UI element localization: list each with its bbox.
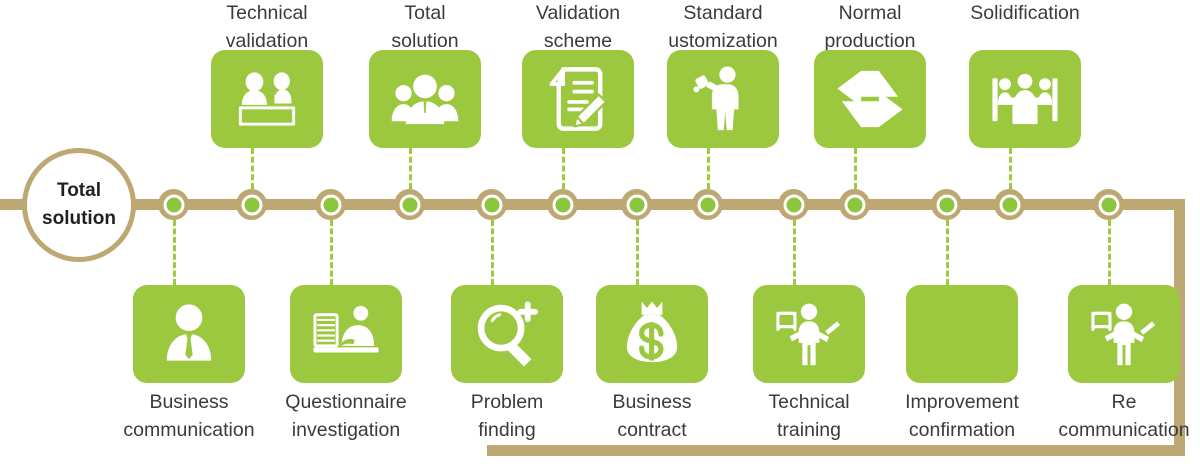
- icon-tile-steps_bottom-7[interactable]: [1068, 285, 1180, 383]
- connector-steps_top-3: [562, 148, 565, 189]
- start-node-total-solution[interactable]: Total solution: [22, 148, 136, 262]
- person-microphone-icon: [686, 62, 760, 136]
- timeline-node-steps_bottom-6[interactable]: [931, 189, 962, 220]
- icon-tile-steps_top-2[interactable]: [369, 50, 481, 148]
- timeline-node-steps_top-4[interactable]: [692, 189, 723, 220]
- connector-steps_bottom-4: [636, 220, 639, 285]
- icon-tile-steps_bottom-2[interactable]: [290, 285, 402, 383]
- icon-tile-steps_bottom-5[interactable]: [753, 285, 865, 383]
- teacher-book-pointer-icon: [772, 297, 846, 371]
- start-node-line1: Total: [57, 177, 101, 205]
- timeline-node-steps_bottom-5[interactable]: [778, 189, 809, 220]
- timeline-node-steps_top-3[interactable]: [547, 189, 578, 220]
- timeline-spine-bottom-return: [487, 445, 1185, 456]
- icon-tile-steps_bottom-4[interactable]: [596, 285, 708, 383]
- icon-tile-steps_top-6[interactable]: [969, 50, 1081, 148]
- connector-steps_bottom-3: [491, 220, 494, 285]
- business-person-tie-icon: [152, 297, 226, 371]
- teacher-book-pointer-icon: [1087, 297, 1161, 371]
- timeline-node-steps_top-5[interactable]: [839, 189, 870, 220]
- money-bag-dollar-icon: [615, 297, 689, 371]
- desk-writing-form-icon: [309, 297, 383, 371]
- timeline-node-steps_top-1[interactable]: [236, 189, 267, 220]
- icon-tile-steps_top-4[interactable]: [667, 50, 779, 148]
- meeting-table-two-people-icon: [230, 62, 304, 136]
- timeline-node-steps_bottom-3[interactable]: [476, 189, 507, 220]
- timeline-node-steps_bottom-2[interactable]: [315, 189, 346, 220]
- icon-tile-steps_top-3[interactable]: [522, 50, 634, 148]
- step-label-line2: communication: [1029, 417, 1200, 445]
- connector-steps_top-5: [854, 148, 857, 189]
- conference-three-people-icon: [988, 62, 1062, 136]
- two-way-arrows-icon: [833, 62, 907, 136]
- timeline-node-steps_top-6[interactable]: [994, 189, 1025, 220]
- connector-steps_bottom-2: [330, 220, 333, 285]
- step-label-line1: Solidification: [930, 0, 1120, 28]
- connector-steps_top-1: [251, 148, 254, 189]
- connector-steps_bottom-1: [173, 220, 176, 285]
- timeline-node-steps_bottom-4[interactable]: [621, 189, 652, 220]
- step-label-line1: Re: [1029, 389, 1200, 417]
- step-label-steps_bottom-7: Recommunication: [1029, 389, 1200, 444]
- timeline-node-steps_bottom-1[interactable]: [158, 189, 189, 220]
- process-timeline-diagram: Total solution: [0, 0, 1200, 467]
- document-pencil-icon: [541, 62, 615, 136]
- connector-steps_top-2: [409, 148, 412, 189]
- start-node-line2: solution: [42, 205, 116, 233]
- icon-tile-steps_bottom-1[interactable]: [133, 285, 245, 383]
- timeline-node-steps_top-2[interactable]: [394, 189, 425, 220]
- icon-tile-steps_top-1[interactable]: [211, 50, 323, 148]
- connector-steps_bottom-6: [946, 220, 949, 285]
- timeline-node-steps_bottom-7[interactable]: [1093, 189, 1124, 220]
- icon-tile-steps_bottom-3[interactable]: [451, 285, 563, 383]
- connector-steps_bottom-7: [1108, 220, 1111, 285]
- connector-steps_bottom-5: [793, 220, 796, 285]
- connector-steps_top-4: [707, 148, 710, 189]
- connector-steps_top-6: [1009, 148, 1012, 189]
- group-three-people-icon: [388, 62, 462, 136]
- icon-tile-steps_bottom-6[interactable]: [906, 285, 1018, 383]
- step-label-steps_top-6: Solidification: [930, 0, 1120, 28]
- magnifier-plus-icon: [470, 297, 544, 371]
- icon-tile-steps_top-5[interactable]: [814, 50, 926, 148]
